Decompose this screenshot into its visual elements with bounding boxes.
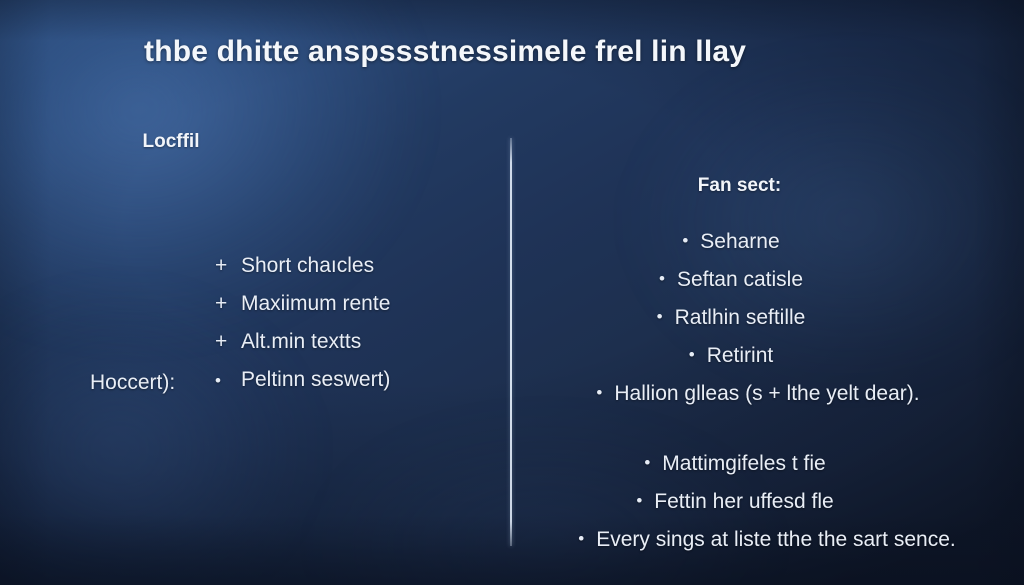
list-item-label: Peltinn seswert): [241, 368, 390, 392]
bullet-icon: •: [659, 260, 665, 298]
list-item: •Ratlhin seftille: [510, 298, 1024, 336]
plus-icon: +: [215, 254, 241, 278]
slide-content: thbe dhitte anspssstnessimele frel lin l…: [0, 0, 1024, 585]
bullet-icon: •: [578, 520, 584, 558]
list-item: + Alt.min textts: [215, 330, 390, 368]
list-item-label: Every sings at liste tthe the sart sence…: [596, 528, 956, 551]
left-column-side-label: Hoccert):: [90, 371, 175, 395]
list-item-label: Hallion glleas (s + lthe yelt dear).: [614, 382, 919, 405]
list-item-label: Fettin her uffesd fle: [654, 490, 833, 513]
plus-icon: +: [215, 292, 241, 316]
right-column-heading: Fan sect:: [510, 175, 1024, 197]
bullet-icon: •: [596, 374, 602, 412]
right-column-list-group-two: •Mattimgifeles t fie •Fettin her uffesd …: [510, 444, 1024, 558]
plus-icon: +: [215, 330, 241, 354]
list-item-label: Short chaıcles: [241, 254, 374, 278]
list-item: •Hallion glleas (s + lthe yelt dear).: [510, 374, 1024, 412]
list-item: •Mattimgifeles t fie: [510, 444, 1024, 482]
left-column-list: + Short chaıcles + Maxiimum rente + Alt.…: [215, 254, 390, 406]
list-item: •Every sings at liste tthe the sart senc…: [510, 520, 1024, 558]
bullet-icon: •: [644, 444, 650, 482]
bullet-icon: •: [682, 222, 688, 260]
bullet-icon: •: [689, 336, 695, 374]
slide-canvas: thbe dhitte anspssstnessimele frel lin l…: [0, 0, 1024, 585]
list-item: + Short chaıcles: [215, 254, 390, 292]
list-item-label: Seftan catisle: [677, 268, 803, 291]
list-item-label: Mattimgifeles t fie: [662, 452, 825, 475]
list-item-label: Retirint: [707, 344, 774, 367]
left-column-heading: Locffil: [0, 131, 510, 153]
list-item: •Retirint: [510, 336, 1024, 374]
list-item-label: Maxiimum rente: [241, 292, 390, 316]
left-column: Locffil Hoccert): + Short chaıcles + Max…: [0, 0, 510, 585]
list-item-label: Ratlhin seftille: [675, 306, 806, 329]
list-item: + Maxiimum rente: [215, 292, 390, 330]
right-column: Fan sect: •Seharne •Seftan catisle •Ratl…: [510, 0, 1024, 585]
bullet-icon: •: [657, 298, 663, 336]
bullet-icon: •: [636, 482, 642, 520]
list-item: •Seharne: [510, 222, 1024, 260]
list-item-label: Alt.min textts: [241, 330, 361, 354]
list-item: •Fettin her uffesd fle: [510, 482, 1024, 520]
list-item: • Peltinn seswert): [215, 368, 390, 406]
bullet-icon: •: [215, 371, 241, 391]
right-column-list-group-one: •Seharne •Seftan catisle •Ratlhin seftil…: [510, 222, 1024, 412]
list-item-label: Seharne: [700, 230, 779, 253]
list-item: •Seftan catisle: [510, 260, 1024, 298]
